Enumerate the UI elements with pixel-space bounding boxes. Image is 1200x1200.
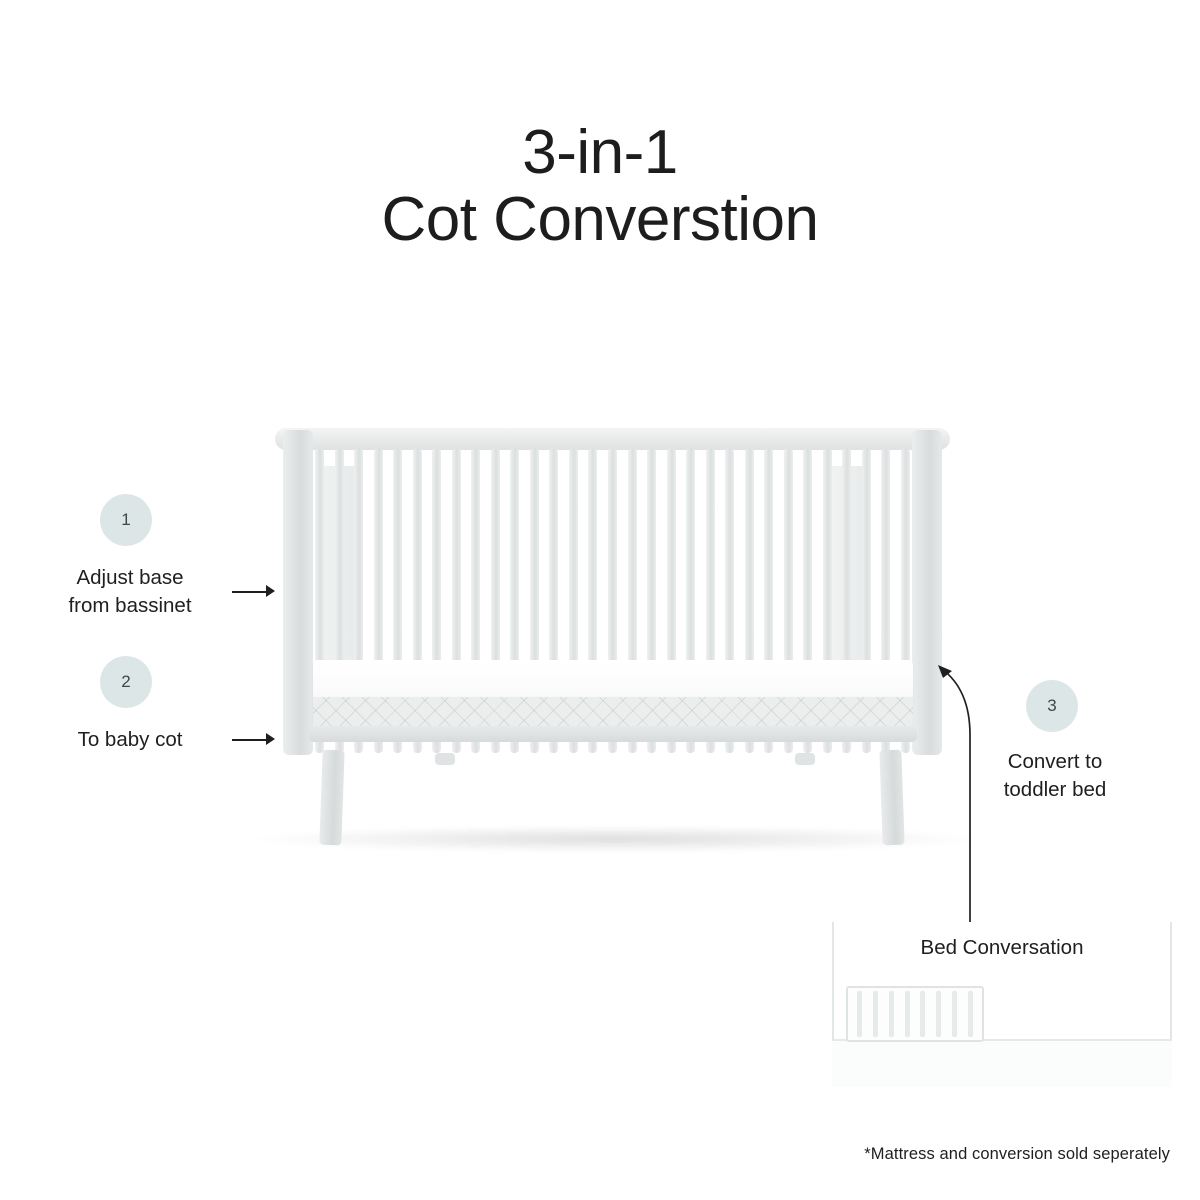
bed-conversion-label: Bed Conversation <box>832 936 1172 960</box>
footnote: *Mattress and conversion sold seperately <box>864 1145 1170 1164</box>
bed-slat <box>952 991 957 1037</box>
callout-label-1-line-1: Adjust base <box>30 564 230 592</box>
bed-slat <box>905 991 910 1037</box>
callout-label-2-line-1: To baby cot <box>30 726 230 754</box>
bed-slat <box>857 991 862 1037</box>
callout-badge-3-number: 3 <box>1047 696 1056 716</box>
curved-arrow-icon <box>920 655 990 955</box>
cot-base-rail <box>309 726 917 742</box>
bed-slat <box>873 991 878 1037</box>
cot-mattress-quilt <box>313 697 913 728</box>
callout-badge-2-number: 2 <box>121 672 130 692</box>
cot-illustration <box>275 420 950 850</box>
title-line-2: Cot Converstion <box>0 187 1200 254</box>
cot-foot-nub-left <box>435 753 455 765</box>
callout-badge-2: 2 <box>100 656 152 708</box>
bed-safety-rail <box>846 986 984 1042</box>
bed-slat <box>889 991 894 1037</box>
callout-label-1-line-2: from bassinet <box>30 592 230 620</box>
bed-slat <box>968 991 973 1037</box>
callout-badge-1: 1 <box>100 494 152 546</box>
arrow-right-icon <box>232 739 270 741</box>
bed-base <box>832 1039 1172 1087</box>
callout-badge-1-number: 1 <box>121 510 130 530</box>
callout-badge-3: 3 <box>1026 680 1078 732</box>
title-line-1: 3-in-1 <box>522 118 678 187</box>
bed-slat <box>920 991 925 1037</box>
page-title: 3-in-1 Cot Converstion <box>0 120 1200 254</box>
cot-leg-right <box>879 750 904 846</box>
cot-foot-nub-right <box>795 753 815 765</box>
cot-leg-left <box>319 750 344 846</box>
cot-post-left <box>283 430 313 755</box>
arrow-right-icon-head <box>266 585 275 597</box>
bed-slat <box>936 991 941 1037</box>
arrow-right-icon <box>232 591 270 593</box>
illustration-canvas: 3-in-1 Cot Converstion <box>0 0 1200 1200</box>
callout-label-2: To baby cot <box>30 726 230 754</box>
cot-top-rail <box>275 428 950 450</box>
arrow-right-icon-head <box>266 733 275 745</box>
callout-label-1: Adjust base from bassinet <box>30 564 230 619</box>
